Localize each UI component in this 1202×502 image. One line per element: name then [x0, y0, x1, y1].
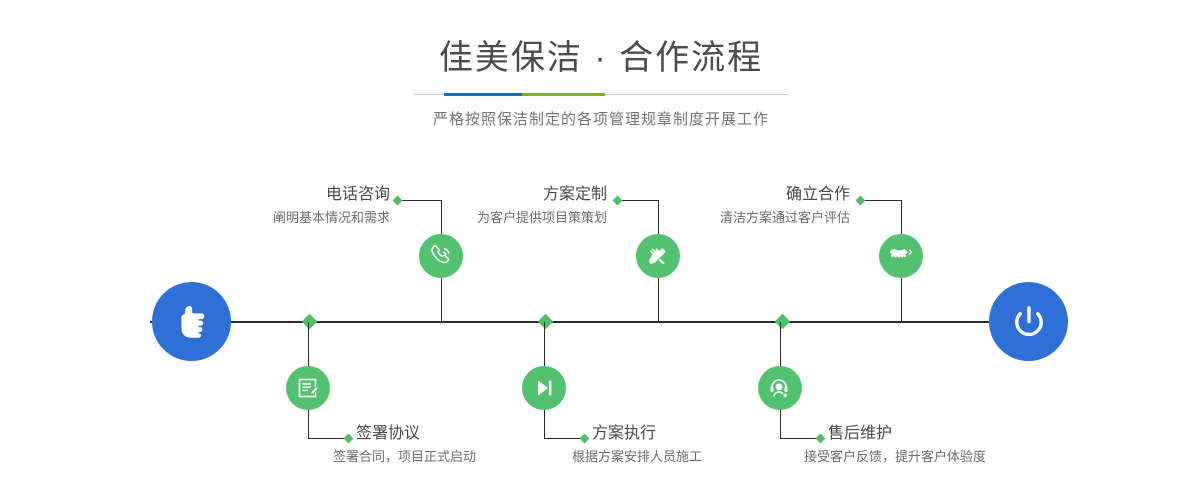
- page-header: 佳美保洁 · 合作流程 严格按照保洁制定的各项管理规章制度开展工作: [0, 0, 1202, 129]
- connector-dot-6: [816, 434, 826, 444]
- timeline-marker-2: [538, 314, 554, 330]
- connector-stem-2: [308, 322, 309, 366]
- step-desc: 为客户提供项目策策划: [395, 208, 607, 228]
- connector-stem-6: [780, 322, 781, 366]
- handshake-icon: [888, 243, 914, 269]
- flow-label-after-sales-maintenance: 售后维护 接受客户反馈，提升客户体验度: [828, 424, 1068, 467]
- flow-node-sign-agreement[interactable]: [286, 366, 330, 410]
- page-title: 佳美保洁 · 合作流程: [0, 0, 1202, 80]
- document-edit-icon: [295, 375, 321, 401]
- connector-elbow-5: [861, 200, 901, 201]
- page-subtitle: 严格按照保洁制定的各项管理规章制度开展工作: [0, 95, 1202, 129]
- power-icon: [1007, 300, 1051, 344]
- flow-label-plan-execution: 方案执行 根据方案安排人员施工: [592, 424, 812, 467]
- flow-label-phone-consultation: 电话咨询 阐明基本情况和需求: [180, 185, 390, 228]
- step-title: 确立合作: [636, 185, 850, 205]
- flow-label-establish-cooperation: 确立合作 清洁方案通过客户评估: [636, 185, 850, 228]
- process-flow-diagram: 电话咨询 阐明基本情况和需求 签署协议 签署合同，项目正式启动: [0, 150, 1202, 502]
- timeline-marker-3: [775, 314, 791, 330]
- connector-stem-4b: [544, 410, 545, 438]
- connector-elbow-4: [544, 438, 584, 439]
- connector-dot-5: [856, 196, 866, 206]
- flow-node-plan-execution[interactable]: [522, 366, 566, 410]
- play-execute-icon: [531, 375, 557, 401]
- connector-stem-4: [544, 322, 545, 366]
- connector-stem-5b: [901, 200, 902, 234]
- connector-stem-1: [441, 278, 442, 322]
- title-divider: [414, 94, 789, 95]
- connector-stem-3: [658, 278, 659, 322]
- connector-stem-5: [901, 278, 902, 322]
- connector-dot-3: [613, 196, 623, 206]
- step-desc: 签署合同，项目正式启动: [333, 447, 586, 467]
- step-title: 方案定制: [395, 185, 607, 205]
- timeline-axis: [150, 321, 1052, 323]
- step-title: 售后维护: [828, 424, 1068, 444]
- pointing-hand-icon: [171, 301, 213, 343]
- connector-elbow-2: [308, 438, 348, 439]
- flow-node-establish-cooperation[interactable]: [879, 234, 923, 278]
- flow-node-plan-customization[interactable]: [636, 234, 680, 278]
- connector-stem-6b: [780, 410, 781, 438]
- customer-service-icon: [767, 375, 793, 401]
- flow-start-node[interactable]: [152, 282, 231, 361]
- flow-label-plan-customization: 方案定制 为客户提供项目策策划: [395, 185, 607, 228]
- connector-elbow-6: [780, 438, 820, 439]
- step-title: 电话咨询: [180, 185, 390, 205]
- step-title: 方案执行: [592, 424, 812, 444]
- step-title: 签署协议: [356, 424, 586, 444]
- flow-node-after-sales-maintenance[interactable]: [758, 366, 802, 410]
- step-desc: 清洁方案通过客户评估: [636, 208, 850, 228]
- step-desc: 根据方案安排人员施工: [572, 447, 812, 467]
- flow-label-sign-agreement: 签署协议 签署合同，项目正式启动: [356, 424, 586, 467]
- pencil-ruler-icon: [645, 243, 671, 269]
- phone-call-icon: [428, 243, 454, 269]
- connector-stem-2b: [308, 410, 309, 438]
- flow-end-node[interactable]: [989, 282, 1068, 361]
- flow-node-phone-consultation[interactable]: [419, 234, 463, 278]
- divider-green-segment: [522, 93, 605, 96]
- step-desc: 阐明基本情况和需求: [180, 208, 390, 228]
- connector-dot-2: [344, 434, 354, 444]
- step-desc: 接受客户反馈，提升客户体验度: [804, 447, 1068, 467]
- timeline-marker-1: [302, 314, 318, 330]
- divider-blue-segment: [444, 93, 522, 96]
